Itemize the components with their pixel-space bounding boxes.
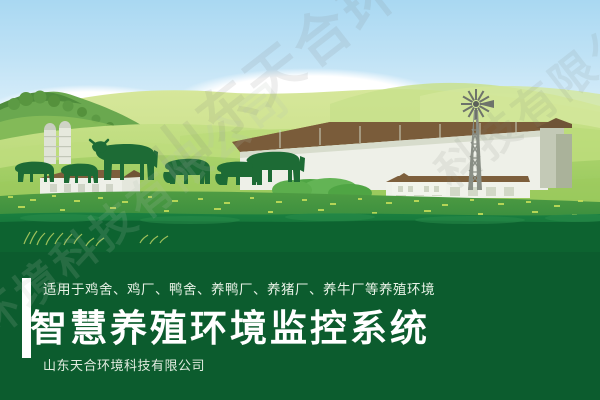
farm-landscape-illustration [0,0,600,260]
banner-company-name: 山东天合环境科技有限公司 [43,357,205,376]
banner-subtitle: 适用于鸡舍、鸡厂、鸭舍、养鸭厂、养猪厂、养牛厂等养殖环境 [43,280,435,300]
banner-main-title: 智慧养殖环境监控系统 [30,306,430,352]
poster-root: 适用于鸡舍、鸡厂、鸭舍、养鸭厂、养猪厂、养牛厂等养殖环境 智慧养殖环境监控系统 … [0,0,600,400]
cow-grazing-1 [163,159,210,184]
